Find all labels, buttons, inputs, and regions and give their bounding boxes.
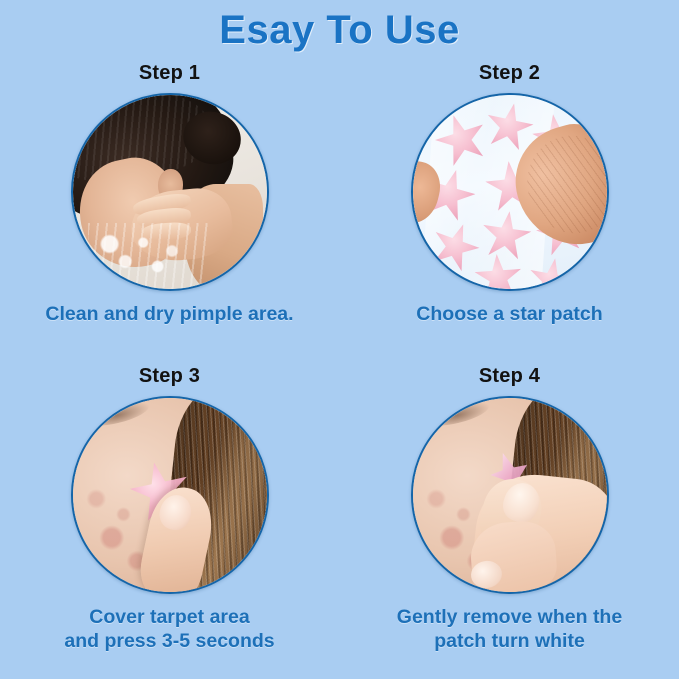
- step-image-1-frame: [71, 93, 269, 291]
- star-patch-sheet-photo: [413, 95, 607, 289]
- step-label-2: Step 2: [340, 62, 679, 85]
- step-card-4: Step 4 Gently remove when the patch turn…: [340, 365, 679, 654]
- step-card-3: Step 3 Cover tarpet area and press 3-5 s…: [0, 365, 339, 654]
- caption-line: Gently remove when the: [340, 606, 679, 630]
- page-title: Esay To Use: [0, 8, 679, 53]
- woman-washing-face-photo: [73, 95, 267, 289]
- caption-line: and press 3-5 seconds: [0, 630, 339, 654]
- step-card-2: Step 2 Cho: [340, 62, 679, 327]
- step-label-1: Step 1: [0, 62, 339, 85]
- step-caption-4: Gently remove when the patch turn white: [340, 606, 679, 654]
- step-caption-1: Clean and dry pimple area.: [0, 303, 339, 327]
- step-label-4: Step 4: [340, 365, 679, 388]
- caption-line: Choose a star patch: [340, 303, 679, 327]
- step-card-1: Step 1 Clean and dry pimple area.: [0, 62, 339, 327]
- step-image-2-frame: [411, 93, 609, 291]
- caption-line: Clean and dry pimple area.: [0, 303, 339, 327]
- step-caption-2: Choose a star patch: [340, 303, 679, 327]
- step-label-3: Step 3: [0, 365, 339, 388]
- step-image-4-frame: [411, 396, 609, 594]
- step-image-3-frame: [71, 396, 269, 594]
- steps-grid: Step 1 Clean and dry pimple area.: [0, 62, 679, 679]
- caption-line: patch turn white: [340, 630, 679, 654]
- removing-patch-photo: [413, 398, 607, 592]
- easy-to-use-infographic: Esay To Use Step 1 Cle: [0, 0, 679, 679]
- caption-line: Cover tarpet area: [0, 606, 339, 630]
- step-caption-3: Cover tarpet area and press 3-5 seconds: [0, 606, 339, 654]
- water-splash-shape: [88, 223, 208, 289]
- applying-patch-photo: [73, 398, 267, 592]
